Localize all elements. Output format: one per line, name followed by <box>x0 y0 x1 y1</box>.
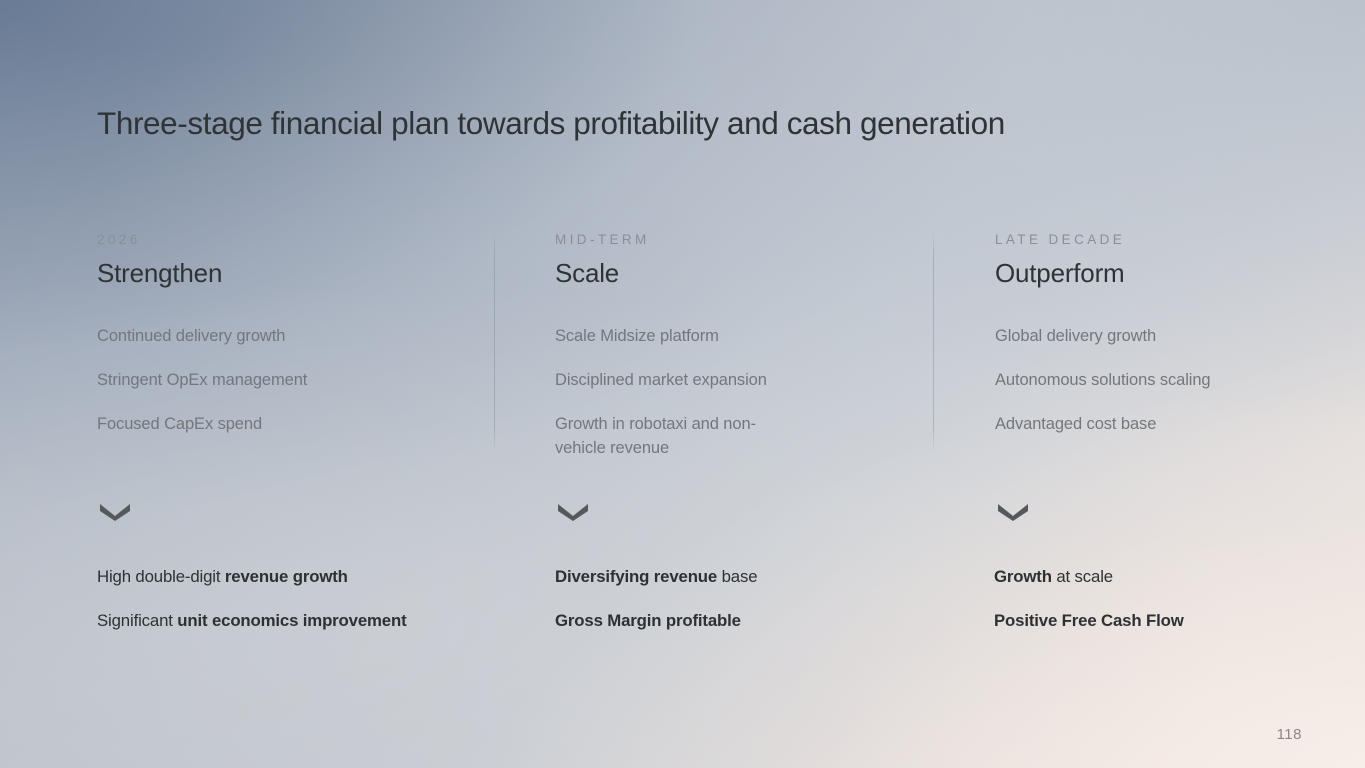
outcome-item: Gross Margin profitable <box>555 610 955 632</box>
stage-outcomes-2026: High double-digit revenue growth Signifi… <box>97 566 517 632</box>
stage-title: Strengthen <box>97 258 472 289</box>
stage-outcomes-late-decade: Growth at scale Positive Free Cash Flow <box>994 566 1365 632</box>
stage-title: Scale <box>555 258 920 289</box>
list-item: Continued delivery growth <box>97 325 472 349</box>
list-item: Stringent OpEx management <box>97 369 472 393</box>
outcome-item: Positive Free Cash Flow <box>994 610 1365 632</box>
list-item: Autonomous solutions scaling <box>995 369 1360 393</box>
chevron-down-icon <box>556 500 590 522</box>
list-item: Advantaged cost base <box>995 413 1360 437</box>
list-item: Global delivery growth <box>995 325 1360 349</box>
list-item: Disciplined market expansion <box>555 369 920 393</box>
list-item: Scale Midsize platform <box>555 325 920 349</box>
stage-title: Outperform <box>995 258 1360 289</box>
stage-eyebrow: LATE DECADE <box>995 232 1360 247</box>
column-divider <box>933 232 934 453</box>
chevron-down-icon <box>98 500 132 522</box>
stage-column-late-decade: LATE DECADE Outperform Global delivery g… <box>995 232 1360 289</box>
outcome-item: Growth at scale <box>994 566 1365 588</box>
stage-outcomes-mid-term: Diversifying revenue base Gross Margin p… <box>555 566 955 632</box>
stage-column-mid-term: MID-TERM Scale Scale Midsize platform Di… <box>555 232 920 289</box>
outcome-item: Significant unit economics improvement <box>97 610 517 632</box>
outcome-item: High double-digit revenue growth <box>97 566 517 588</box>
list-item: Growth in robotaxi and non-vehicle reven… <box>555 413 770 460</box>
page-title: Three-stage financial plan towards profi… <box>97 105 1005 142</box>
stage-bullet-list: Scale Midsize platform Disciplined marke… <box>555 325 920 460</box>
stage-eyebrow: MID-TERM <box>555 232 920 247</box>
column-divider <box>494 232 495 453</box>
page-number: 118 <box>1277 726 1302 743</box>
stage-bullet-list: Global delivery growth Autonomous soluti… <box>995 325 1360 437</box>
stage-eyebrow: 2026 <box>97 232 472 247</box>
outcome-item: Diversifying revenue base <box>555 566 955 588</box>
stage-column-2026: 2026 Strengthen Continued delivery growt… <box>97 232 472 289</box>
slide-canvas: Three-stage financial plan towards profi… <box>0 0 1365 768</box>
stage-bullet-list: Continued delivery growth Stringent OpEx… <box>97 325 472 437</box>
chevron-down-icon <box>996 500 1030 522</box>
list-item: Focused CapEx spend <box>97 413 472 437</box>
